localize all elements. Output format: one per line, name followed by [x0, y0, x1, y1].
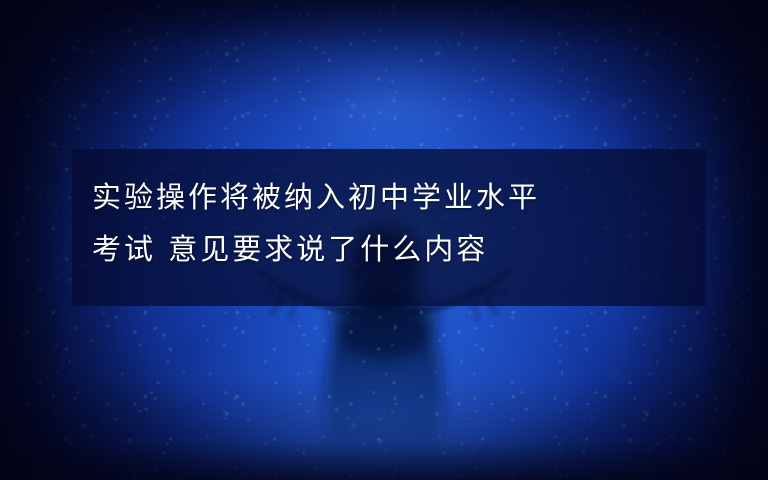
caption-text-block: 实验操作将被纳入初中学业水平 考试 意见要求说了什么内容 — [92, 171, 692, 292]
caption-panel: 实验操作将被纳入初中学业水平 考试 意见要求说了什么内容 — [72, 149, 706, 306]
caption-line-1: 实验操作将被纳入初中学业水平 — [92, 171, 692, 223]
caption-line-2: 考试 意见要求说了什么内容 — [92, 223, 692, 275]
screenshot-stage: 实验操作将被纳入初中学业水平 考试 意见要求说了什么内容 — [0, 0, 768, 480]
